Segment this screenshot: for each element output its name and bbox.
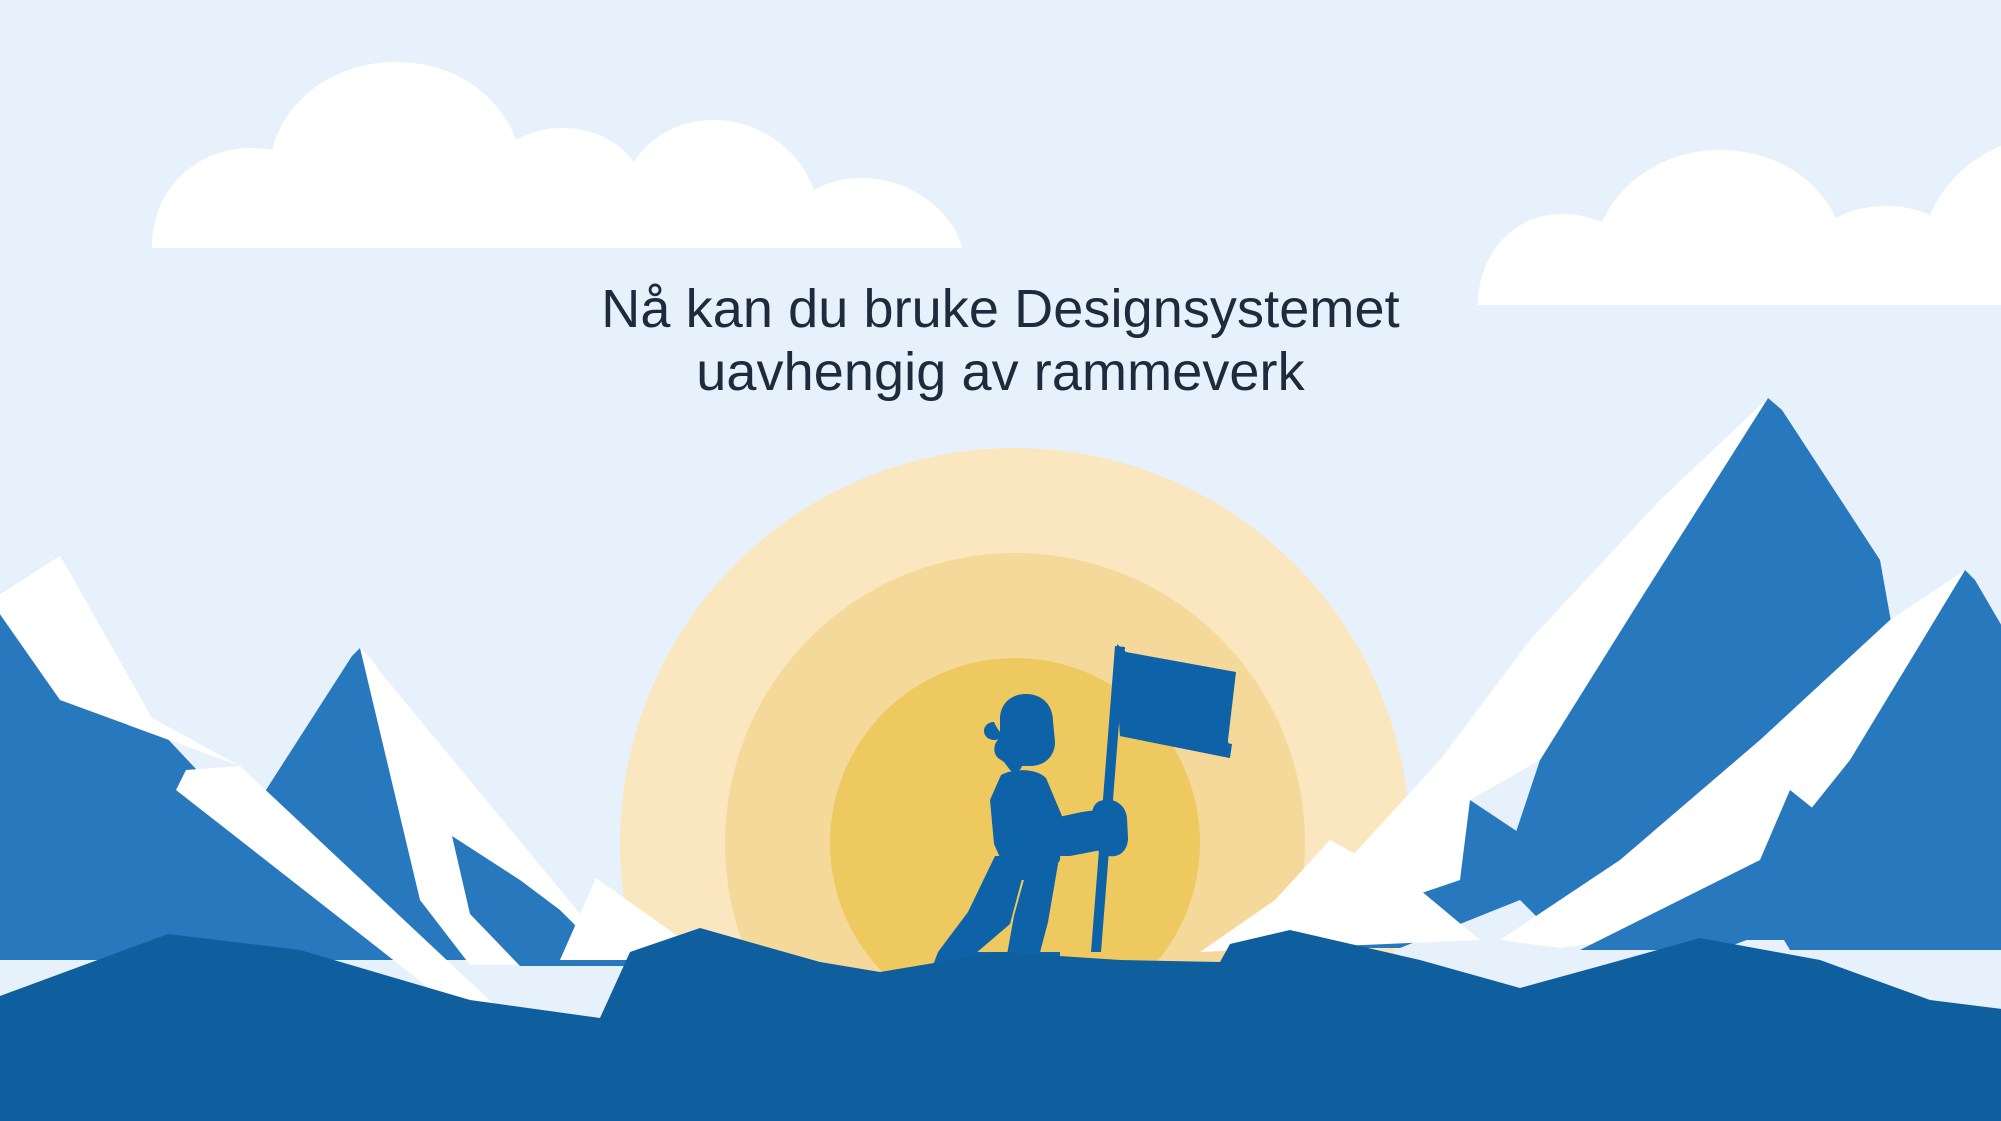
illustration-banner: Nå kan du bruke Designsystemet uavhengig… <box>0 0 2001 1121</box>
foreground-ridge-shape <box>0 928 2001 1121</box>
scene-illustration <box>0 0 2001 1121</box>
foreground-ridge <box>0 928 2001 1121</box>
